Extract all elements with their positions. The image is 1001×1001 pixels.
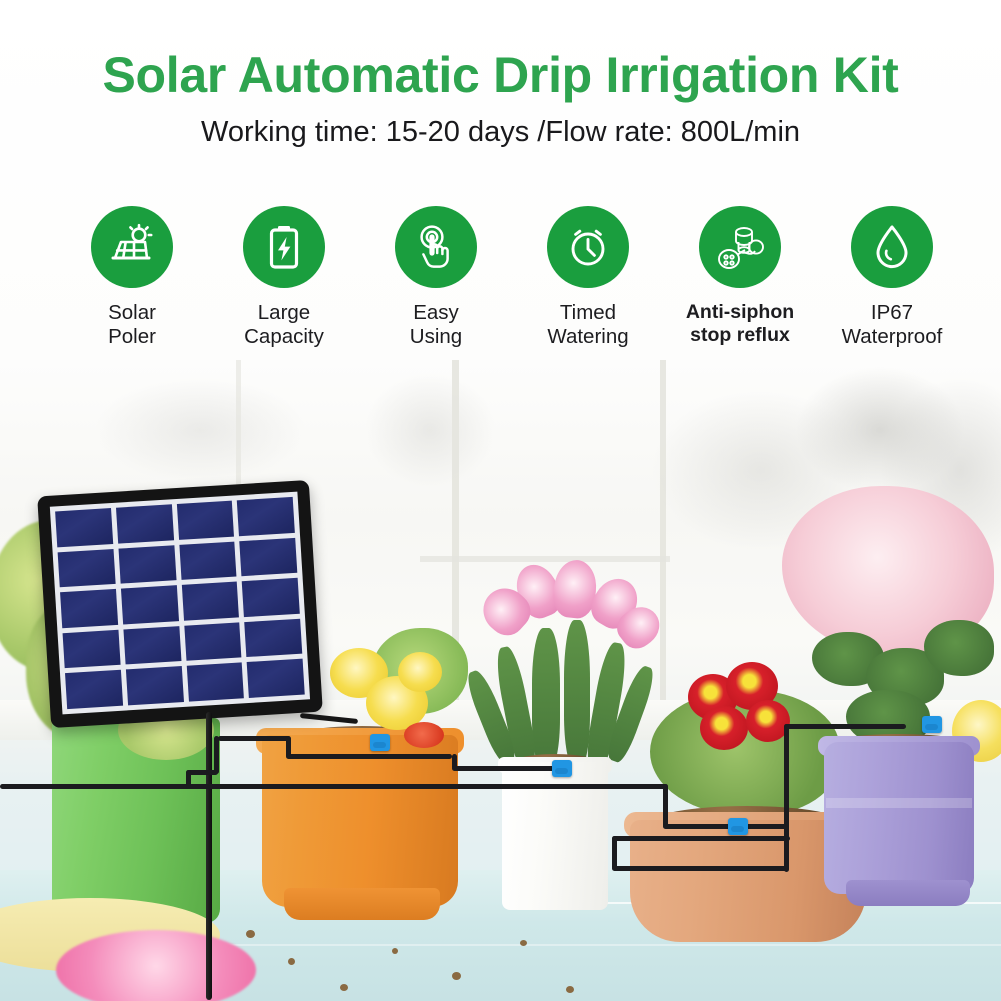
page-subtitle: Working time: 15-20 days /Flow rate: 800…: [0, 100, 1001, 147]
yellow-flower: [398, 652, 442, 692]
feature-badge: [243, 206, 325, 288]
drip-tube: [784, 724, 906, 729]
drip-emitter: [370, 734, 390, 751]
red-flower: [700, 706, 748, 750]
feature-item-ip67-waterproof: IP67 Waterproof: [822, 206, 962, 349]
feature-label: Large Capacity: [214, 301, 354, 349]
drip-tube: [663, 784, 668, 828]
feature-badge: [699, 206, 781, 288]
feature-badge: [91, 206, 173, 288]
solar-panel-stake: [206, 712, 212, 1000]
drip-emitter: [922, 716, 942, 733]
soil-crumb: [246, 930, 255, 938]
battery-icon: [259, 222, 309, 272]
feature-label: Easy Using: [366, 301, 506, 349]
valve-icon: [714, 221, 766, 273]
feature-item-anti-siphon: Anti-siphon stop reflux: [670, 206, 810, 347]
feature-badge: [851, 206, 933, 288]
drip-tube: [214, 736, 219, 774]
product-poster: Solar Automatic Drip Irrigation Kit Work…: [0, 0, 1001, 1001]
drip-tube: [663, 824, 789, 829]
feature-list: Solar Poler Large Capacity: [62, 206, 962, 349]
header: Solar Automatic Drip Irrigation Kit Work…: [0, 0, 1001, 185]
feature-badge: [547, 206, 629, 288]
water-drop-icon: [867, 222, 917, 272]
orange-pot: [262, 735, 458, 907]
feature-label: Solar Poler: [62, 301, 202, 349]
red-accent-flower: [404, 722, 444, 748]
drip-tube-main: [186, 784, 668, 789]
solar-panel-cells: [50, 492, 310, 715]
solar-panel: [37, 480, 323, 728]
purple-pot-band: [826, 798, 972, 808]
purple-pot: [824, 742, 974, 894]
feature-item-easy-using: Easy Using: [366, 206, 506, 349]
drip-tube: [612, 836, 617, 870]
soil-crumb: [452, 972, 461, 980]
drip-tube: [286, 754, 452, 759]
drip-tube: [784, 724, 789, 872]
feature-label: Anti-siphon stop reflux: [670, 301, 810, 347]
feature-label: Timed Watering: [518, 301, 658, 349]
kalanchoe-leaf: [924, 620, 994, 676]
pink-bloom: [56, 930, 256, 1001]
feature-item-solar-poler: Solar Poler: [62, 206, 202, 349]
drip-tube-main: [0, 784, 192, 789]
feature-item-timed-watering: Timed Watering: [518, 206, 658, 349]
soil-crumb: [340, 984, 348, 991]
soil-crumb: [520, 940, 527, 946]
drip-emitter: [552, 760, 572, 777]
drip-tube: [612, 866, 788, 871]
drip-tube: [452, 766, 564, 771]
solar-panel-icon: [107, 222, 157, 272]
soil-crumb: [288, 958, 295, 965]
tap-touch-icon: [411, 222, 461, 272]
orange-pot-saucer: [284, 888, 440, 920]
drip-tube: [612, 836, 790, 841]
feature-item-large-capacity: Large Capacity: [214, 206, 354, 349]
purple-pot-saucer: [846, 880, 970, 906]
window-mullion-vertical: [660, 360, 666, 710]
drip-tube: [218, 736, 290, 741]
feature-label: IP67 Waterproof: [822, 301, 962, 349]
soil-crumb: [392, 948, 398, 954]
page-title: Solar Automatic Drip Irrigation Kit: [0, 0, 1001, 100]
feature-badge: [395, 206, 477, 288]
alarm-clock-icon: [563, 222, 613, 272]
soil-crumb: [566, 986, 574, 993]
drip-emitter: [728, 818, 748, 835]
